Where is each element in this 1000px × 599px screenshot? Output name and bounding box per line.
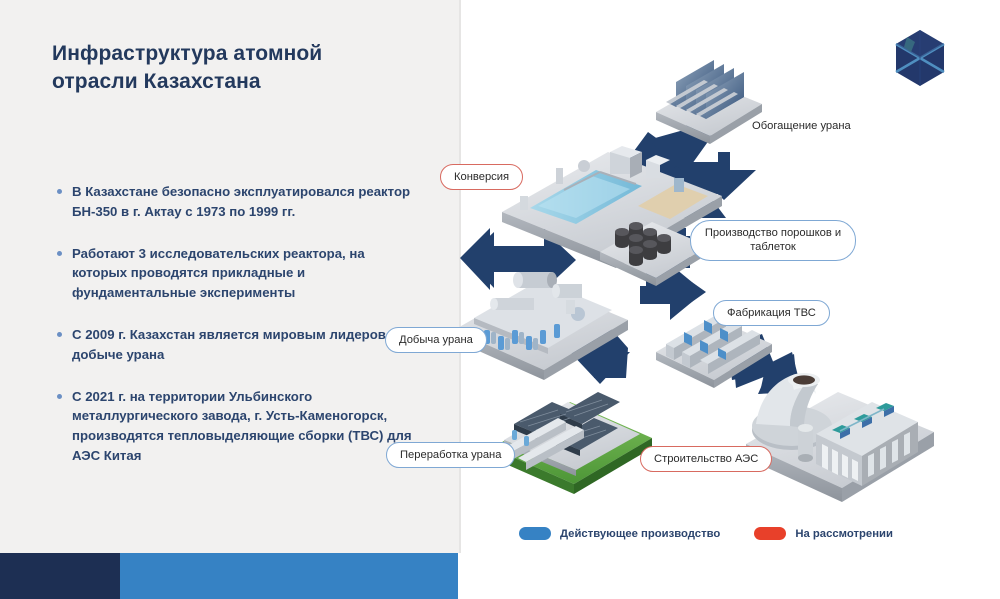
- legend-label: Действующее производство: [560, 528, 720, 540]
- enrichment-centrifuges-illustration: [656, 0, 762, 144]
- footer-accent-navy: [0, 553, 120, 599]
- nuclear-power-plant-illustration: [746, 373, 934, 502]
- bullet-dot-icon: [57, 251, 62, 256]
- bullet-dot-icon: [57, 394, 62, 399]
- label-powder-production[interactable]: Производство порошков и таблеток: [690, 220, 856, 261]
- legend-item-operating: Действующее производство: [519, 527, 720, 540]
- legend: Действующее производство На рассмотрении: [519, 527, 893, 540]
- legend-swatch-red-icon: [754, 527, 786, 540]
- bullet-list: В Казахстане безопасно эксплуатировался …: [56, 182, 416, 466]
- bullet-text: С 2009 г. Казахстан является мировым лид…: [72, 327, 406, 362]
- legend-item-under-review: На рассмотрении: [754, 527, 893, 540]
- bullet-dot-icon: [57, 332, 62, 337]
- list-item: С 2021 г. на территории Ульбинского мета…: [56, 387, 416, 466]
- legend-label: На рассмотрении: [795, 528, 893, 540]
- label-conversion[interactable]: Конверсия: [440, 164, 523, 190]
- page-title: Инфраструктура атомной отрасли Казахстан…: [52, 40, 392, 95]
- footer-accent-blue: [120, 553, 458, 599]
- label-enrichment: Обогащение урана: [752, 119, 851, 133]
- bullet-text: С 2021 г. на территории Ульбинского мета…: [72, 389, 412, 463]
- bullet-dot-icon: [57, 189, 62, 194]
- label-uranium-mining[interactable]: Добыча урана: [385, 327, 487, 353]
- bullet-text: В Казахстане безопасно эксплуатировался …: [72, 184, 410, 219]
- slide-canvas: Инфраструктура атомной отрасли Казахстан…: [0, 0, 1000, 599]
- legend-swatch-blue-icon: [519, 527, 551, 540]
- list-item: В Казахстане безопасно эксплуатировался …: [56, 182, 416, 222]
- label-uranium-processing[interactable]: Переработка урана: [386, 442, 515, 468]
- uranium-processing-facility-illustration: [492, 392, 652, 494]
- label-npp-construction[interactable]: Строительство АЭС: [640, 446, 772, 472]
- footer-bar: [0, 553, 1000, 599]
- label-fuel-fabrication[interactable]: Фабрикация ТВС: [713, 300, 830, 326]
- list-item: Работают 3 исследовательских реактора, н…: [56, 244, 416, 303]
- list-item: С 2009 г. Казахстан является мировым лид…: [56, 325, 416, 365]
- bullet-text: Работают 3 исследовательских реактора, н…: [72, 246, 365, 301]
